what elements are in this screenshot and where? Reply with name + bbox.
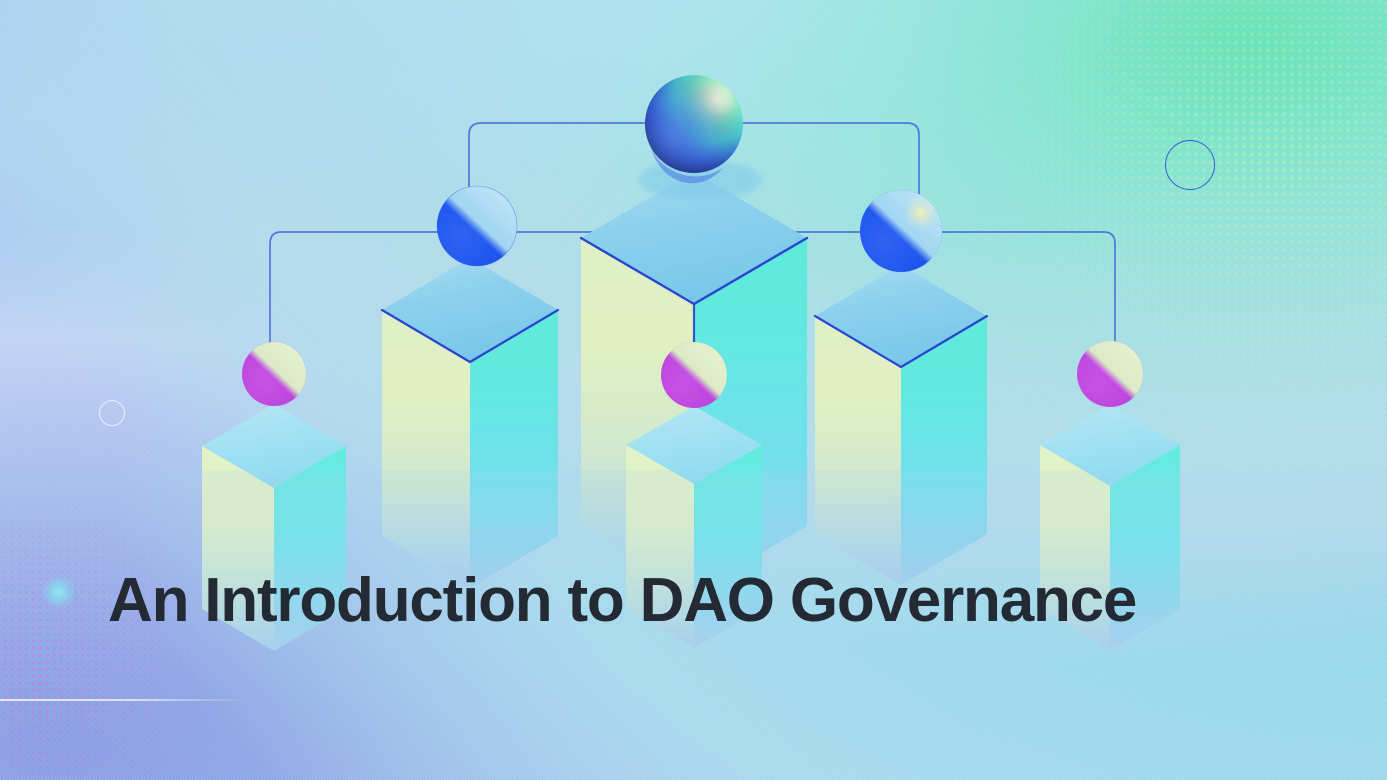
dao-governance-illustration (0, 0, 1387, 780)
title-card: An Introduction to DAO Governance (0, 0, 1387, 780)
connector-branch-leaf-right (1092, 232, 1115, 348)
connector-branch-leaf-left (270, 232, 293, 348)
page-title: An Introduction to DAO Governance (108, 567, 1136, 635)
leaf-node-left-sphere (242, 342, 306, 406)
branch-node-left-sphere (437, 186, 517, 266)
leaf-node-center-sphere (661, 342, 727, 408)
branch-node-right-sphere (860, 190, 942, 272)
root-node-sphere (638, 75, 762, 200)
leaf-node-right-sphere (1077, 341, 1143, 407)
